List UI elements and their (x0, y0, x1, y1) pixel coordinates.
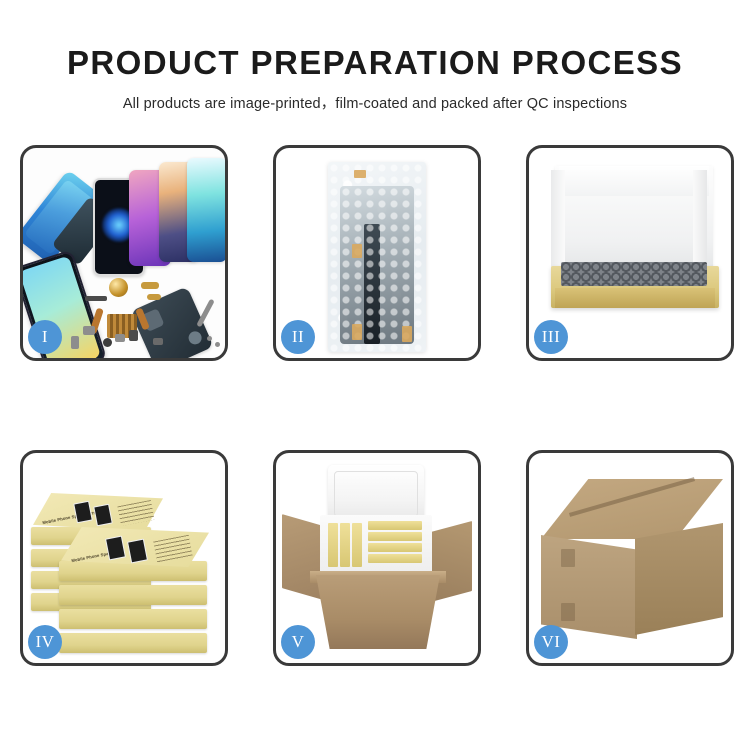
step-panel-6: VI (526, 450, 734, 666)
foam-padding-icon (561, 262, 707, 286)
product-preparation-process-page: PRODUCT PREPARATION PROCESS All products… (0, 0, 750, 750)
component-icon-6 (129, 330, 138, 341)
inner-box-icon-1 (328, 523, 338, 567)
stacked-box-icon-b2 (59, 585, 207, 605)
component-icon-7 (71, 336, 79, 349)
sealed-carton-side-icon (635, 523, 723, 635)
tape-icon-4 (402, 326, 412, 342)
box-lid-right-flap-icon (693, 170, 707, 270)
stacked-box-icon-b3 (59, 609, 207, 629)
process-steps-grid: I II (20, 145, 728, 675)
carton-body-icon (316, 575, 440, 649)
component-icon-3 (147, 294, 161, 300)
step-badge-5: V (281, 625, 315, 659)
tape-icon-2 (352, 244, 362, 258)
sealed-carton-front-icon (541, 535, 637, 639)
component-icon-1 (85, 296, 107, 301)
tape-icon-1 (354, 170, 366, 178)
component-icon-8 (153, 338, 163, 345)
page-title: PRODUCT PREPARATION PROCESS (0, 0, 750, 82)
carton-tape-icon-1 (561, 549, 575, 567)
inner-box-icon-2 (340, 523, 350, 567)
step-badge-1: I (28, 320, 62, 354)
bubble-texture-icon (328, 162, 426, 352)
component-icon-2 (141, 282, 159, 289)
inner-box-icon-5 (368, 532, 422, 541)
teal-phone-icon (187, 158, 225, 262)
screw-icon-1 (207, 336, 212, 341)
step-panel-1: I (20, 145, 228, 361)
step-panel-2: II (273, 145, 481, 361)
component-icon-4 (83, 326, 95, 335)
inner-box-icon-4 (368, 521, 422, 530)
step-panel-4: Mobile Phone Spare Parts Mobile Phone Sp… (20, 450, 228, 666)
component-icon-5 (115, 334, 125, 342)
box-lid-left-flap-icon (551, 170, 565, 270)
bubble-wrap-bag-icon (328, 162, 426, 352)
page-header: PRODUCT PREPARATION PROCESS All products… (0, 0, 750, 113)
box-stack-icon: Mobile Phone Spare Parts Mobile Phone Sp… (31, 475, 221, 653)
step-badge-2: II (281, 320, 315, 354)
step-badge-4: IV (28, 625, 62, 659)
screw-icon-2 (215, 342, 220, 347)
camera-lens-icon (103, 338, 112, 347)
stacked-box-icon-b4 (59, 633, 207, 653)
kraft-tray-front-icon (555, 288, 715, 308)
page-subtitle: All products are image-printed，film-coat… (0, 82, 750, 113)
speaker-component-icon (109, 278, 128, 297)
inner-box-icon-3 (352, 523, 362, 567)
step-panel-5: V (273, 450, 481, 666)
step-badge-3: III (534, 320, 568, 354)
inner-box-icon-6 (368, 543, 422, 552)
box-lid-top-icon (559, 166, 709, 196)
carton-tape-icon-2 (561, 603, 575, 621)
tape-icon-3 (352, 324, 362, 340)
step-panel-3: III (526, 145, 734, 361)
inner-box-icon-7 (368, 554, 422, 563)
step-badge-6: VI (534, 625, 568, 659)
